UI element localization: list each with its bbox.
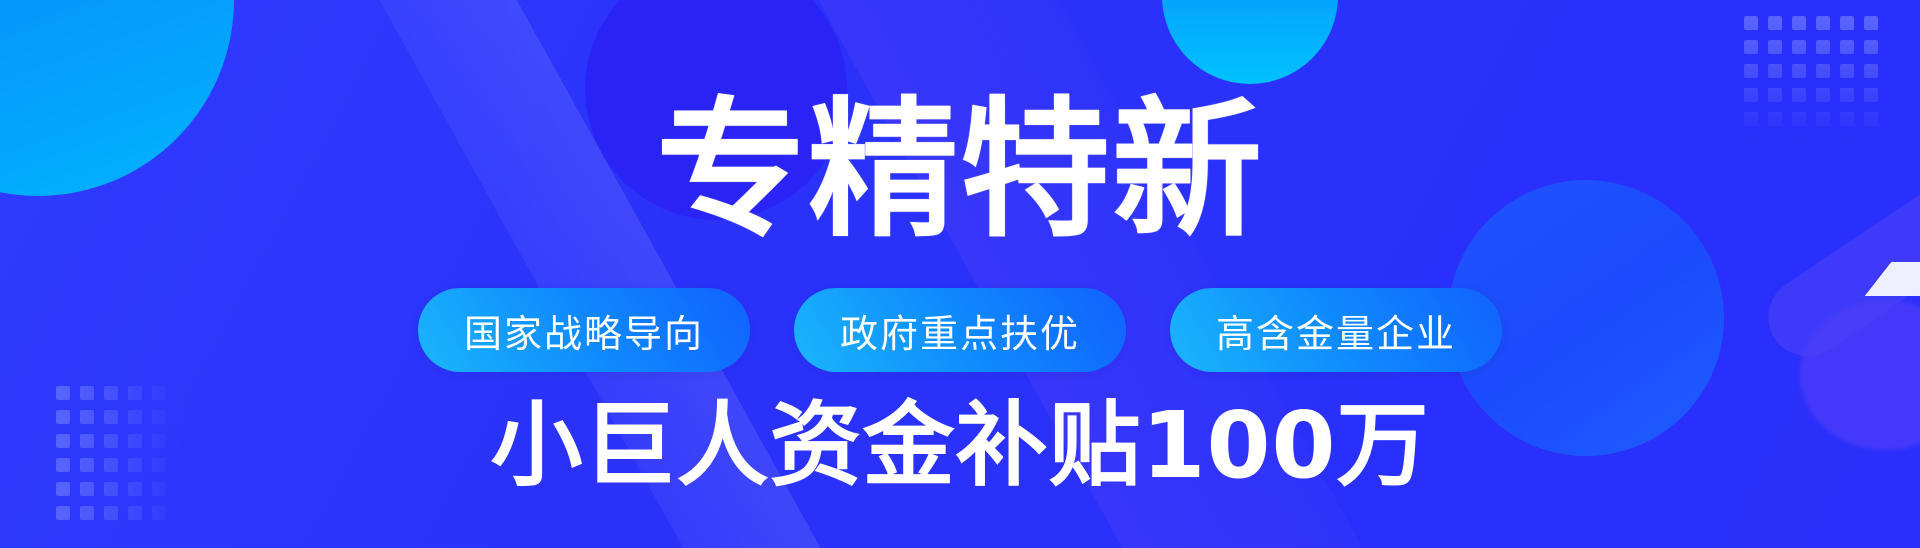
feature-pill-national-strategy[interactable]: 国家战略导向 (418, 288, 750, 372)
feature-pill-high-value-enterprise[interactable]: 高含金量企业 (1170, 288, 1502, 372)
feature-pill-government-support[interactable]: 政府重点扶优 (794, 288, 1126, 372)
banner-content: 专精特新 国家战略导向 政府重点扶优 高含金量企业 小巨人资金补贴100万 (0, 0, 1920, 548)
banner-subheadline: 小巨人资金补贴100万 (490, 400, 1429, 492)
feature-pill-label: 政府重点扶优 (840, 303, 1080, 358)
promo-banner: 专精特新 国家战略导向 政府重点扶优 高含金量企业 小巨人资金补贴100万 (0, 0, 1920, 548)
feature-pill-row: 国家战略导向 政府重点扶优 高含金量企业 (418, 288, 1502, 372)
feature-pill-label: 国家战略导向 (464, 303, 704, 358)
banner-headline: 专精特新 (656, 96, 1264, 246)
feature-pill-label: 高含金量企业 (1216, 303, 1456, 358)
